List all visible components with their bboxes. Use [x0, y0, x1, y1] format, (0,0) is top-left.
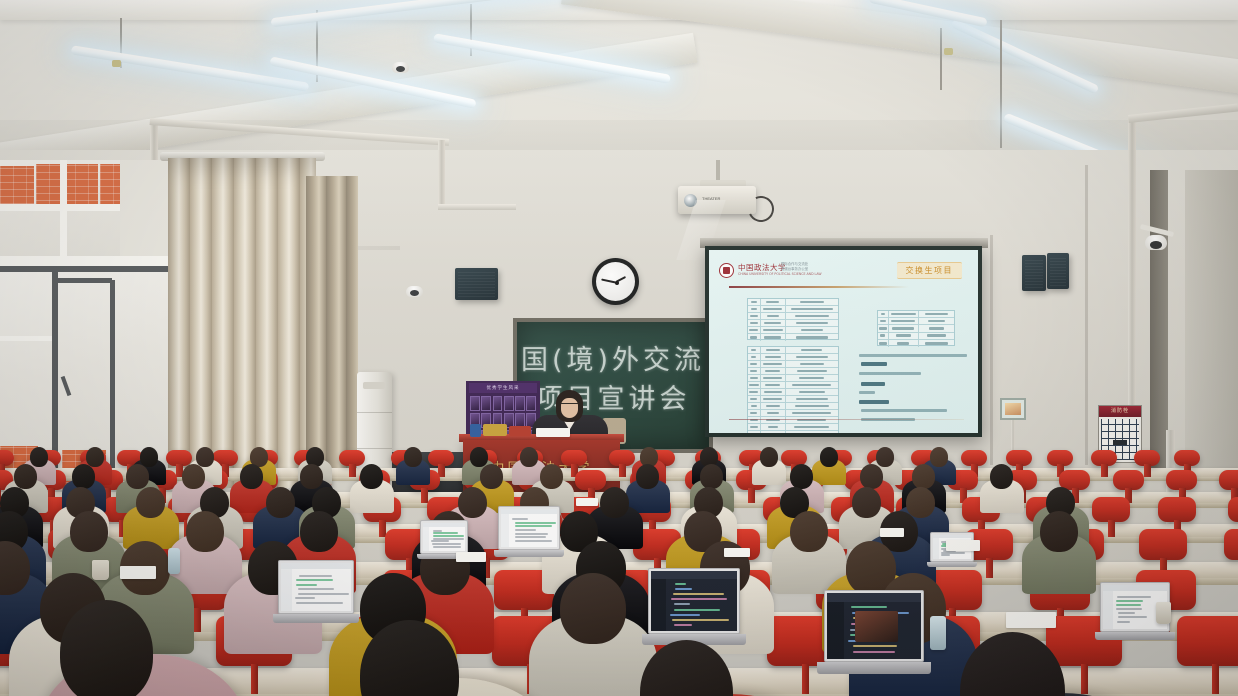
student-head — [760, 447, 778, 466]
slide-table-cell — [761, 396, 786, 402]
document-text-line — [433, 546, 461, 548]
slide-table-cell — [878, 340, 889, 347]
brick-view — [100, 164, 120, 208]
slide-table-row — [748, 320, 838, 327]
slide-table-cell — [878, 333, 889, 339]
wall-clock — [592, 258, 639, 305]
student-head — [240, 464, 263, 489]
document-ui — [423, 523, 465, 551]
slide-cell-text — [765, 356, 781, 358]
student-head — [140, 447, 158, 466]
wall-speaker-left — [455, 268, 498, 300]
slide-table-row — [748, 306, 838, 313]
code-line — [674, 624, 692, 626]
chair-post — [802, 664, 809, 694]
student-head — [990, 464, 1013, 489]
slide-table-cell — [786, 431, 838, 433]
slide-cell-text — [880, 320, 887, 322]
slide-cell-text — [927, 334, 945, 336]
slide-table-cell — [761, 424, 786, 430]
slide-cell-text — [750, 370, 757, 372]
honor-board-cell — [515, 396, 525, 411]
document-text-line — [515, 529, 535, 531]
slide-table-right — [877, 310, 955, 346]
document-text-line — [433, 535, 464, 537]
slide-cell-text — [796, 322, 828, 324]
light-clip — [944, 48, 953, 55]
document-text-line — [298, 593, 349, 595]
slide-table-cell — [761, 327, 786, 333]
slide-cell-text — [763, 363, 783, 365]
laptop-keyboard-base[interactable] — [817, 662, 931, 674]
slide-table-cell — [786, 334, 838, 341]
editor-toolbar — [651, 571, 737, 579]
slide-cell-text — [800, 301, 825, 303]
code-line — [670, 614, 700, 616]
document-text-line — [515, 525, 552, 527]
slide-cell-text — [750, 377, 758, 379]
security-camera-icon — [406, 286, 423, 297]
slide-cell-text — [800, 363, 825, 365]
slide-table-cell — [761, 347, 786, 353]
student-head — [1040, 511, 1078, 552]
student-head — [560, 573, 626, 644]
slide-cell-text — [750, 412, 757, 414]
desk-paper — [946, 540, 980, 551]
document-sidebar — [281, 569, 292, 611]
student-head — [790, 464, 813, 489]
slide-table-cell — [786, 389, 838, 395]
student-head — [360, 464, 383, 489]
slide-body-line — [859, 354, 967, 357]
document-text-line — [299, 575, 333, 577]
slide-cell-text — [749, 391, 758, 393]
slide-table-row — [748, 361, 838, 368]
student-head — [860, 464, 883, 489]
student-head — [86, 447, 104, 466]
slide-table-cell — [748, 382, 761, 388]
slide-table-cell — [748, 320, 761, 326]
slide-table-cell — [748, 306, 761, 312]
slide-cell-text — [795, 405, 829, 407]
slide-cell-text — [767, 412, 779, 414]
chair-back[interactable] — [1224, 529, 1238, 560]
document-ui — [501, 509, 557, 547]
document-text-line — [1116, 608, 1142, 610]
slide-table-row — [748, 403, 838, 410]
chair-back[interactable] — [1092, 497, 1130, 522]
chair-post — [349, 464, 356, 477]
student-head — [480, 464, 503, 489]
window-frame-bar — [110, 280, 115, 490]
document-text-line — [1118, 616, 1147, 618]
slide-table-cell — [878, 325, 889, 331]
chair-back[interactable] — [1166, 470, 1197, 490]
chair-back[interactable] — [575, 470, 606, 490]
slide-table-cell — [786, 306, 838, 312]
university-logo-icon — [719, 263, 734, 278]
slide-table-row — [748, 368, 838, 375]
honor-board-cell — [481, 396, 491, 411]
clock-face — [596, 262, 635, 301]
student-head — [300, 464, 323, 489]
student-head — [470, 447, 488, 466]
student-head — [820, 447, 838, 466]
slide-table-cell — [919, 340, 954, 347]
slide-table-cell — [786, 354, 838, 360]
slide-cell-text — [796, 336, 829, 338]
slide-table-row — [748, 327, 838, 334]
code-line — [673, 593, 724, 595]
drink-cup — [1156, 602, 1171, 624]
chair-post — [421, 488, 428, 503]
presenter-glasses-icon — [561, 403, 578, 407]
wall-seam — [1085, 165, 1088, 465]
slide-cell-text — [767, 315, 779, 317]
slide-table-cell — [761, 320, 786, 326]
honor-board-title: 优秀学生风采 — [469, 383, 537, 393]
document-toolbar — [281, 563, 351, 569]
slide-table-cell — [761, 299, 786, 305]
document-text-line — [296, 602, 343, 604]
chair-post — [748, 488, 755, 503]
projector-lens-icon — [684, 194, 697, 207]
slide-table-cell — [786, 368, 838, 374]
slide-table-cell — [761, 389, 786, 395]
slide-cell-text — [763, 308, 782, 310]
slide-cell-text — [766, 301, 780, 303]
slide-cell-text — [925, 313, 949, 315]
slide-cell-text — [750, 426, 759, 428]
slide-table-row — [748, 375, 838, 382]
document-text-line — [1117, 596, 1152, 598]
desk-paper — [724, 548, 750, 557]
dispenser-control-panel[interactable] — [363, 382, 385, 389]
laptop-display — [651, 571, 737, 631]
slide-cell-text — [881, 313, 885, 315]
chair-post — [194, 608, 201, 632]
desk-paper — [880, 528, 904, 537]
laptop-keyboard-base[interactable] — [1095, 632, 1175, 640]
light-rod — [1000, 20, 1002, 148]
document-toolbar — [933, 535, 971, 538]
blackboard-line-2: 项目宣讲会 — [517, 377, 709, 416]
laptop-keyboard-base[interactable] — [273, 614, 360, 623]
slide-cell-text — [791, 308, 834, 310]
honor-board-cell — [470, 396, 480, 411]
laptop-display — [827, 593, 921, 659]
fire-cabinet-equipment — [1113, 440, 1127, 445]
code-line — [671, 598, 727, 600]
slide-cell-text — [763, 377, 782, 379]
window-frame-bar — [0, 266, 185, 272]
laptop-screen[interactable] — [648, 568, 740, 634]
honor-board-cell — [493, 396, 503, 411]
water-bottle — [930, 616, 946, 650]
chair-back[interactable] — [1219, 470, 1238, 490]
desk-paper — [456, 552, 486, 562]
student-head — [126, 464, 149, 489]
laptop-display — [281, 563, 351, 611]
slide-table-cell — [761, 382, 786, 388]
document-text-line — [295, 597, 315, 599]
slide-cell-text — [764, 322, 782, 324]
wall-speaker-right-a — [1022, 255, 1046, 291]
slide-cell-text — [750, 315, 758, 317]
slide-table-cell — [748, 368, 761, 374]
slide-header: 中国政法大学 CHINA UNIVERSITY OF POLITICAL SCI… — [719, 261, 968, 285]
slide-table-cell — [748, 313, 761, 319]
slide-table-cell — [786, 424, 838, 430]
document-text-line — [296, 579, 332, 581]
slide-table-row — [748, 431, 838, 433]
slide-table-cell — [761, 354, 786, 360]
light-clip — [112, 60, 121, 67]
document-text-line — [515, 522, 556, 524]
slide-table-cell — [919, 311, 954, 317]
ceiling-projector: THEATER — [678, 186, 756, 214]
student-head — [790, 511, 828, 552]
student-head — [600, 487, 629, 518]
editor-sidebar — [827, 593, 844, 659]
window-wall — [0, 160, 185, 490]
slide-cell-text — [891, 313, 916, 315]
podium-item-blue — [470, 424, 481, 437]
document-text-line — [512, 518, 528, 520]
wall-column-right — [1185, 170, 1238, 470]
slide-table-cell — [889, 325, 919, 331]
document-text-line — [1117, 621, 1130, 623]
document-text-line — [432, 543, 461, 545]
podium-book-stack — [483, 424, 507, 436]
slide-table-cell — [878, 311, 889, 317]
student-head — [266, 487, 295, 518]
door-reveal — [1150, 170, 1168, 470]
presenter-face — [561, 398, 578, 418]
slide-table-cell — [748, 424, 761, 430]
slide-divider — [729, 286, 909, 288]
slide-table-cell — [786, 299, 838, 305]
chair-post — [1144, 464, 1151, 477]
foreground-student-head — [60, 600, 153, 696]
slide-cell-text — [801, 329, 823, 331]
code-line — [675, 583, 686, 585]
slide-cell-text — [750, 336, 757, 338]
slide-table-cell — [748, 410, 761, 416]
slide-title: 交换生项目 — [897, 262, 963, 279]
wall-speaker-right-b — [1047, 253, 1069, 289]
clock-center-pin — [615, 281, 619, 285]
slide-cell-text — [799, 377, 824, 379]
brick-view — [0, 166, 34, 204]
slide-table-cell — [761, 306, 786, 312]
document-ui — [281, 563, 351, 611]
student-head — [906, 487, 935, 518]
document-toolbar — [423, 523, 465, 527]
laptop-display — [423, 523, 465, 551]
code-line — [674, 603, 691, 605]
slide-cell-text — [792, 384, 831, 386]
code-line — [853, 651, 895, 653]
chair-back[interactable] — [1158, 497, 1196, 522]
slide-table-left-top — [747, 298, 839, 340]
slide-cell-text — [801, 349, 822, 351]
slide-table-cell — [889, 318, 919, 324]
slide-logo-sub-2: 港澳台事务办公室 — [781, 267, 808, 271]
curtain-mid[interactable] — [306, 176, 358, 476]
slide-cell-text — [766, 349, 780, 351]
wall-seam — [990, 235, 993, 465]
slide-table-cell — [786, 320, 838, 326]
slide-table-cell — [786, 396, 838, 402]
slide-table-cell — [919, 325, 954, 331]
slide-table-cell — [748, 334, 761, 341]
document-text-line — [515, 540, 552, 542]
slide-table-row — [748, 382, 838, 389]
code-line — [851, 606, 887, 608]
water-bottle — [168, 548, 180, 574]
slide-table-row — [748, 424, 838, 431]
laptop-display — [501, 509, 557, 547]
projector-label: THEATER — [702, 196, 720, 201]
document-sidebar — [1103, 591, 1113, 629]
slide-cell-text — [750, 363, 757, 365]
laptop-screen[interactable] — [824, 590, 924, 662]
podium-book-red — [509, 426, 531, 436]
slide-table-cell — [748, 403, 761, 409]
slide-table-row — [748, 396, 838, 403]
slide-cell-text — [766, 405, 780, 407]
drink-cup — [92, 560, 109, 580]
slide-table-cell — [919, 318, 954, 324]
student-head — [182, 464, 205, 489]
slide-table-cell — [878, 318, 889, 324]
slide-table-row — [748, 313, 838, 320]
classroom-photo-scene: 国(境)外交流 项目宣讲会 THEATER 中国政法大学 CHINA UNIVE… — [0, 0, 1238, 696]
dispenser-seam — [357, 412, 392, 413]
window-mullion — [0, 336, 52, 341]
code-editor-ui — [827, 593, 921, 659]
student-head — [912, 464, 935, 489]
slide-cell-text — [751, 308, 757, 310]
student-head — [852, 487, 881, 518]
desk-paper — [1006, 612, 1056, 628]
slide-cell-text — [799, 391, 825, 393]
slide-table-row — [878, 311, 954, 318]
slide-cell-text — [751, 301, 757, 303]
slide-table-cell — [748, 299, 761, 305]
slide-table-cell — [786, 313, 838, 319]
slide-table-row — [748, 389, 838, 396]
student-head — [876, 447, 894, 466]
slide-table-row — [878, 318, 954, 325]
code-editor-ui — [651, 571, 737, 631]
slide-table-cell — [748, 361, 761, 367]
projection-screen: 中国政法大学 CHINA UNIVERSITY OF POLITICAL SCI… — [705, 246, 982, 437]
slide-table-row — [748, 299, 838, 306]
student-head — [14, 464, 37, 489]
slide-table-row — [748, 347, 838, 354]
document-text-line — [298, 588, 334, 590]
slide-table-cell — [786, 347, 838, 353]
slide-cell-text — [794, 426, 829, 428]
chair-back[interactable] — [1177, 616, 1238, 666]
slide-cell-text — [796, 398, 829, 400]
wall-control-box[interactable] — [1000, 398, 1026, 420]
slide-cell-text — [892, 327, 914, 329]
slide-cell-text — [768, 426, 778, 428]
chair-back[interactable] — [1228, 497, 1238, 522]
laptop-screen[interactable] — [278, 560, 354, 614]
vertical-pipe-right — [1128, 115, 1136, 445]
student-head — [930, 447, 948, 466]
window-transom — [0, 256, 185, 266]
laptop-screen[interactable] — [420, 520, 468, 554]
document-text-line — [515, 533, 549, 535]
slide-cell-text — [765, 384, 780, 386]
chair-back[interactable] — [1113, 470, 1144, 490]
slide-table-cell — [748, 347, 761, 353]
slide-table-cell — [761, 334, 786, 341]
slide-cell-text — [925, 342, 948, 344]
desk-paper — [576, 498, 598, 506]
slide-cell-text — [764, 336, 781, 338]
slide-table-cell — [761, 368, 786, 374]
blackboard-line-1: 国(境)外交流 — [517, 338, 709, 377]
document-text-line — [1116, 604, 1141, 606]
student-head — [72, 464, 95, 489]
editor-sidebar — [651, 571, 666, 631]
slide-table-cell — [786, 375, 838, 381]
slide-cell-text — [879, 342, 887, 344]
slide-body-heading — [861, 362, 887, 366]
laptop-screen[interactable] — [498, 506, 560, 550]
slide-table-cell — [748, 354, 761, 360]
slide-logo-subtitle: 国际合作与交流处 港澳台事务办公室 — [781, 262, 808, 272]
presentation-slide: 中国政法大学 CHINA UNIVERSITY OF POLITICAL SCI… — [709, 250, 978, 433]
slide-table-cell — [761, 403, 786, 409]
document-text-line — [1118, 612, 1135, 614]
slide-cell-text — [749, 384, 759, 386]
window-frame-bar — [58, 278, 112, 283]
student-head — [186, 511, 224, 552]
chair-back[interactable] — [1139, 529, 1187, 560]
laptop-keyboard-base[interactable] — [927, 562, 977, 567]
slide-cell-text — [880, 334, 885, 336]
document-sidebar — [933, 538, 939, 559]
pipe-branch — [438, 204, 516, 210]
slide-table-row — [878, 333, 954, 340]
slide-table-cell — [761, 410, 786, 416]
light-rod — [940, 28, 942, 90]
slide-table-row — [748, 334, 838, 341]
student-head — [70, 511, 108, 552]
chair-post — [619, 464, 626, 477]
slide-table-cell — [786, 382, 838, 388]
document-sidebar — [423, 527, 429, 551]
slide-cell-text — [796, 356, 827, 358]
document-toolbar — [1103, 585, 1167, 591]
code-line — [675, 588, 693, 590]
document-text-line — [1116, 600, 1143, 602]
student-head — [520, 447, 538, 466]
code-line — [672, 619, 729, 621]
curtain-left[interactable] — [168, 158, 316, 488]
honor-board-cell — [504, 396, 514, 411]
student-head — [404, 447, 422, 466]
slide-table-cell — [786, 410, 838, 416]
laptop-keyboard-base[interactable] — [494, 550, 565, 557]
